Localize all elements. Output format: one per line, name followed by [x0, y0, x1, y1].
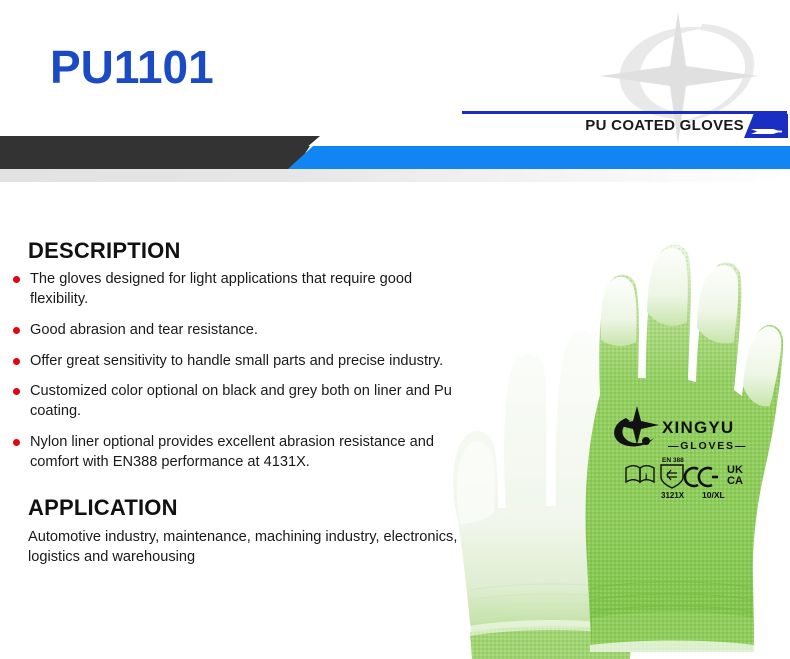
brand-name: XINGYU [662, 418, 734, 437]
svg-text:i: i [645, 472, 648, 482]
en-rating-label: 3121X [661, 491, 685, 500]
page-header: PU1101 PU COATED GLOVES PRODUCT DATASHEE… [0, 0, 790, 180]
tag-arrow-glyph-icon [751, 122, 783, 129]
pu-coated-gloves-photo: XINGYU —GLOVES— i EN 388 3121X UK CA [440, 190, 790, 659]
bullet-dot-icon [13, 276, 20, 283]
header-shadow-strip [0, 169, 790, 182]
ukca-line2: CA [727, 475, 743, 487]
bullet-dot-icon [13, 388, 20, 395]
list-item-text: Good abrasion and tear resistance. [30, 322, 258, 338]
list-item-text: Customized color optional on black and g… [30, 383, 452, 419]
bullet-dot-icon [13, 327, 20, 334]
datasheet-label: PRODUCT DATASHEET [22, 8, 208, 26]
category-rule [462, 111, 787, 114]
bullet-dot-icon [13, 439, 20, 446]
list-item: Nylon liner optional provides excellent … [0, 433, 470, 473]
size-label: 10/XL [702, 490, 725, 500]
list-item: Good abrasion and tear resistance. [0, 321, 470, 341]
description-heading: DESCRIPTION [28, 182, 470, 264]
header-blue-bar [288, 146, 790, 169]
application-text: Automotive industry, maintenance, machin… [28, 527, 458, 568]
application-heading: APPLICATION [28, 495, 470, 521]
list-item-text: Nylon liner optional provides excellent … [30, 434, 434, 470]
category-label: PU COATED GLOVES [462, 117, 744, 134]
list-item-text: Offer great sensitivity to handle small … [30, 353, 443, 369]
brand-subtitle: —GLOVES— [668, 440, 747, 452]
page-title: PU1101 [50, 44, 214, 90]
list-item-text: The gloves designed for light applicatio… [30, 271, 412, 307]
description-bullet-list: The gloves designed for light applicatio… [0, 270, 470, 473]
en-standard-label: EN 388 [662, 457, 684, 464]
bullet-dot-icon [13, 358, 20, 365]
list-item: Offer great sensitivity to handle small … [0, 352, 470, 372]
list-item: Customized color optional on black and g… [0, 382, 470, 422]
list-item: The gloves designed for light applicatio… [0, 270, 470, 310]
content-column: DESCRIPTION The gloves designed for ligh… [0, 182, 470, 568]
